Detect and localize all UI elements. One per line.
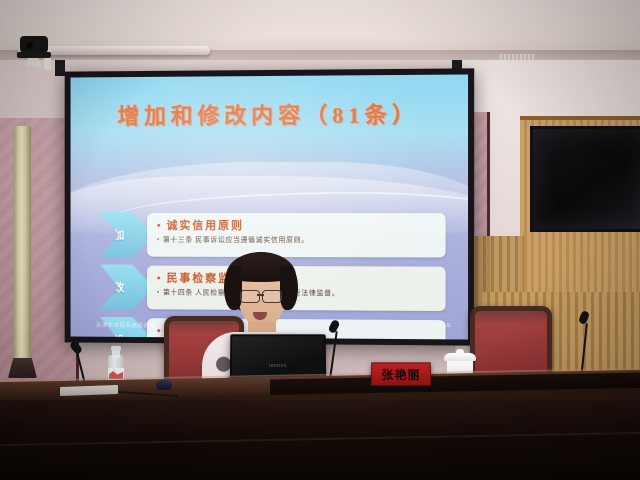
photo-scene: 厅 增加和修改内容（81条） 增加 诚实信用原则 第十三条 民事诉讼应当遵循诚实…: [0, 0, 640, 480]
desk-lower-panel: [0, 400, 640, 480]
slide-footer-left: 天津市法院系统培训班: [96, 321, 155, 329]
card-heading: 诚实信用原则: [157, 217, 436, 233]
glasses-bridge: [257, 294, 264, 296]
chevron-marker-icon: 修改: [100, 264, 153, 310]
card-subtext: 第十三条 民事诉讼应当遵循诚实信用原则。: [157, 236, 436, 246]
screen-mount-left: [55, 60, 65, 76]
nameplate-text: 张艳丽: [381, 366, 420, 383]
teacup-lid: [444, 353, 476, 361]
chevron-marker-icon: 增加: [100, 212, 153, 258]
decorative-column-left: [14, 126, 31, 374]
camera-lens-icon: [24, 40, 35, 51]
glasses-lens-left-icon: [240, 290, 260, 303]
glasses-lens-right-icon: [262, 290, 282, 303]
slide-footer-right: 2012年: [434, 322, 452, 329]
teacup-knob: [456, 349, 464, 354]
chevron-label: 增加: [102, 227, 126, 243]
bottle-cap: [111, 346, 121, 351]
hair-side-left: [224, 266, 242, 310]
slide-title: 增加和修改内容（81条）: [71, 97, 469, 131]
chevron-label: 修改: [102, 279, 126, 295]
slide-card: 诚实信用原则 第十三条 民事诉讼应当遵循诚实信用原则。: [147, 213, 446, 258]
nameplate: 张艳丽: [371, 362, 432, 385]
camera-base: [17, 52, 51, 58]
wall-mounted-television: [530, 126, 640, 232]
laptop-brand-logo: lenovo: [269, 363, 287, 369]
hair-side-right: [280, 266, 298, 310]
chevron-label: 新设: [102, 332, 126, 340]
computer-mouse: [156, 380, 172, 390]
